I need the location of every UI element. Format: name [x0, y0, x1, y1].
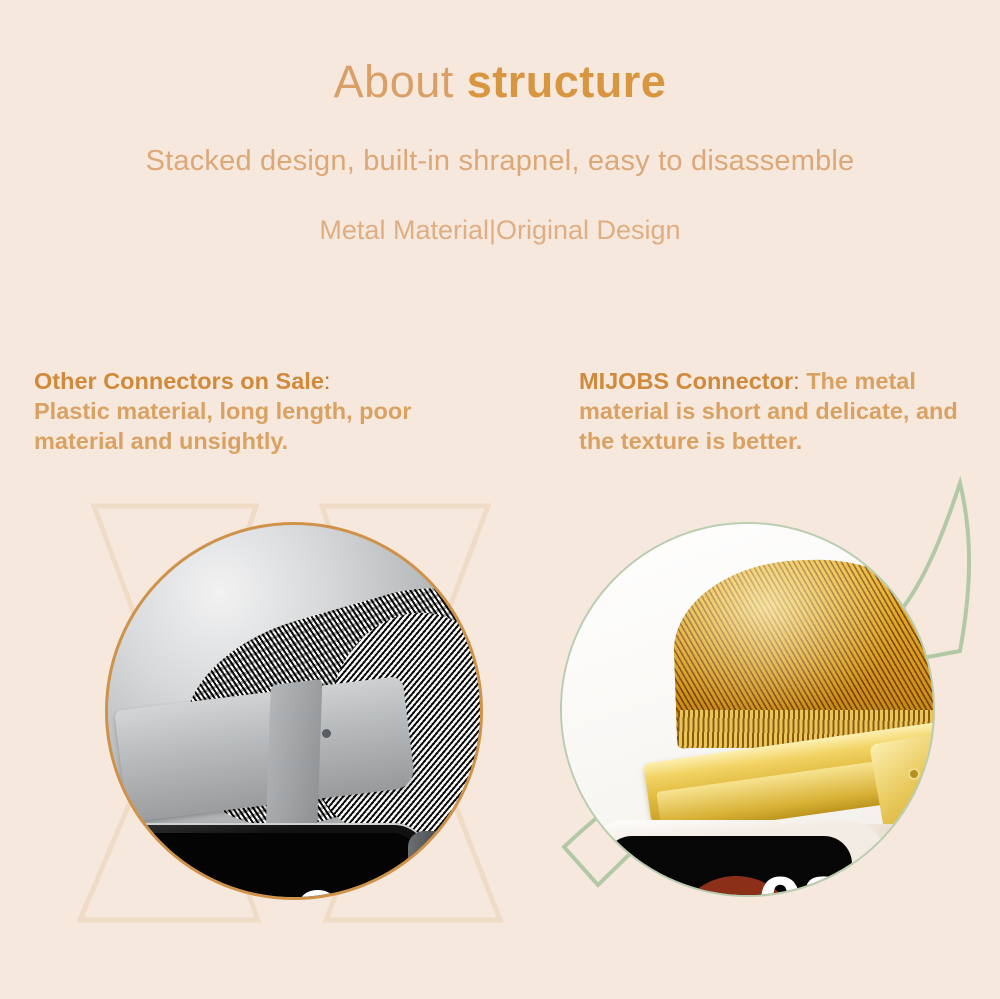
page-title-light: About [334, 56, 467, 107]
left-caption-colon: : [324, 368, 331, 394]
column-other-connectors: Other Connectors on Sale: Plastic materi… [34, 366, 504, 456]
column-mijobs-connector: MIJOBS Connector: The metal material is … [575, 366, 993, 456]
photo-other-connector: 08 [105, 522, 483, 900]
left-caption-body: Plastic material, long length, poor mate… [34, 398, 411, 454]
right-caption-head: MIJOBS Connector [579, 368, 793, 394]
watch-side-button [420, 855, 440, 900]
watch-time-right: 08 16 [758, 872, 878, 897]
connector-pin [322, 729, 331, 738]
page-title-bold: structure [467, 56, 667, 107]
left-caption: Other Connectors on Sale: Plastic materi… [34, 366, 504, 456]
header: About structure Stacked design, built-in… [0, 0, 1000, 246]
subtitle-line-1: Stacked design, built-in shrapnel, easy … [0, 144, 1000, 178]
right-caption: MIJOBS Connector: The metal material is … [575, 366, 993, 456]
left-caption-head: Other Connectors on Sale [34, 368, 324, 394]
subtitle-line-2: Metal Material|Original Design [0, 214, 1000, 246]
watch-time-left: 08 [292, 877, 393, 900]
watch-time-hours: 08 [758, 872, 878, 897]
page-title: About structure [0, 56, 1000, 108]
photo-mijobs-connector: 08 16 [560, 522, 935, 897]
connector-screw [908, 768, 920, 780]
plastic-connector-edge [266, 679, 323, 837]
